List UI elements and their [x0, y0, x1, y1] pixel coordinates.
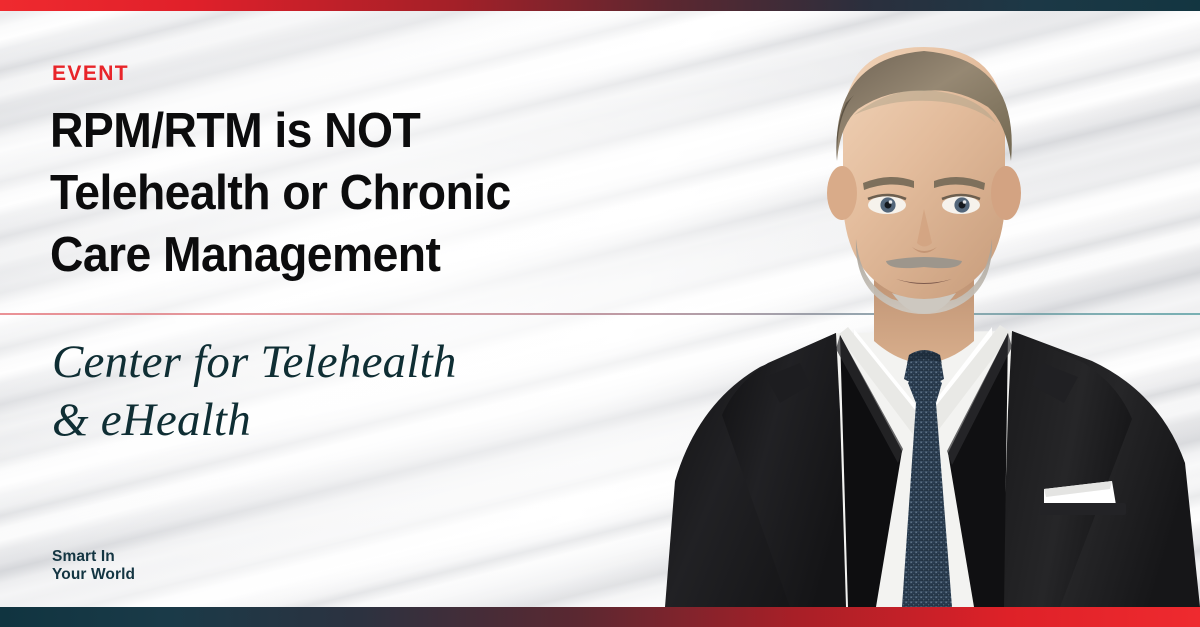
headline-line-1: RPM/RTM is NOT — [50, 100, 664, 162]
page-title: RPM/RTM is NOT Telehealth or Chronic Car… — [50, 100, 664, 286]
headline-line-2: Telehealth or Chronic — [50, 162, 664, 224]
headline-line-3: Care Management — [50, 224, 664, 286]
eyebrow-label: EVENT — [52, 63, 129, 84]
subtitle-line-1: Center for Telehealth — [52, 333, 672, 391]
tagline-line-2: Your World — [52, 566, 135, 584]
brand-tagline: Smart In Your World — [52, 548, 135, 583]
speaker-portrait — [640, 11, 1200, 607]
tagline-line-1: Smart In — [52, 548, 135, 566]
subtitle: Center for Telehealth & eHealth — [52, 333, 672, 449]
bottom-gradient-bar — [0, 607, 1200, 627]
subtitle-line-2: & eHealth — [52, 391, 672, 449]
top-gradient-bar — [0, 0, 1200, 11]
text-content: EVENT RPM/RTM is NOT Telehealth or Chron… — [52, 0, 712, 627]
event-promo-card: EVENT RPM/RTM is NOT Telehealth or Chron… — [0, 0, 1200, 627]
